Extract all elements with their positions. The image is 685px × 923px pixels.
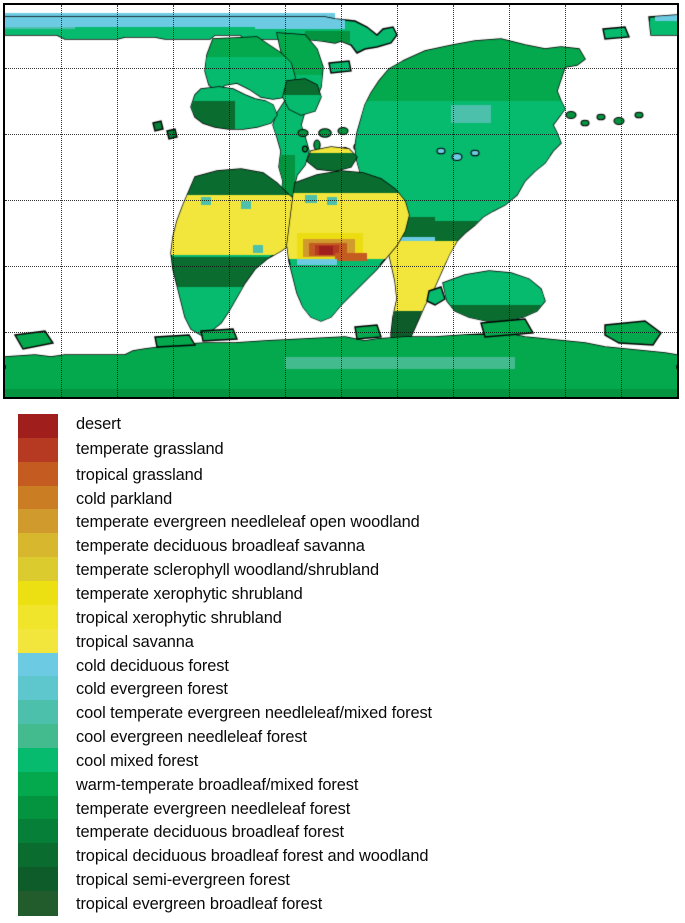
legend-item-label: tropical grassland (76, 463, 203, 487)
legend-color-swatch (18, 629, 58, 654)
legend-item-label: tropical deciduous broadleaf forest and … (76, 844, 428, 868)
legend-color-swatch (18, 819, 58, 844)
legend-item: temperate evergreen needleleaf forest (0, 796, 685, 820)
legend-item: tropical semi-evergreen forest (0, 867, 685, 891)
legend-color-swatch (18, 700, 58, 725)
figure-page: deserttemperate grasslandtropical grassl… (0, 0, 685, 923)
biome-map-canvas[interactable] (5, 5, 677, 397)
legend-color-swatch (18, 867, 58, 892)
biome-legend: deserttemperate grasslandtropical grassl… (0, 414, 685, 923)
legend-color-swatch (18, 724, 58, 749)
legend-item: desert (0, 414, 685, 438)
legend-color-swatch (18, 772, 58, 797)
legend-item-label: tropical semi-evergreen forest (76, 868, 290, 892)
legend-item: temperate deciduous broadleaf forest (0, 819, 685, 843)
legend-color-swatch (18, 557, 58, 582)
legend-item-label: temperate sclerophyll woodland/shrubland (76, 558, 379, 582)
legend-item-label: desert (76, 412, 121, 436)
legend-color-swatch (18, 462, 58, 487)
legend-item-label: temperate evergreen needleleaf forest (76, 797, 350, 821)
legend-color-swatch (18, 533, 58, 558)
legend-item-label: temperate grassland (76, 437, 224, 461)
legend-color-swatch (18, 581, 58, 606)
legend-item: tropical xerophytic shrubland (0, 605, 685, 629)
legend-item: temperate sclerophyll woodland/shrubland (0, 557, 685, 581)
legend-item-label: cool temperate evergreen needleleaf/mixe… (76, 701, 432, 725)
legend-color-swatch (18, 748, 58, 773)
legend-item-label: temperate deciduous broadleaf savanna (76, 534, 365, 558)
legend-item-label: cold parkland (76, 487, 172, 511)
legend-item-label: cool mixed forest (76, 749, 198, 773)
legend-item: temperate deciduous broadleaf savanna (0, 533, 685, 557)
legend-item-label: temperate evergreen needleleaf open wood… (76, 510, 420, 534)
legend-color-swatch (18, 676, 58, 701)
legend-item: cool mixed forest (0, 748, 685, 772)
legend-color-swatch (18, 414, 58, 439)
legend-color-swatch (18, 796, 58, 821)
legend-item-label: tropical xerophytic shrubland (76, 606, 282, 630)
legend-item: cool temperate evergreen needleleaf/mixe… (0, 700, 685, 724)
legend-item-label: cold evergreen forest (76, 677, 228, 701)
legend-color-swatch (18, 486, 58, 511)
legend-item: tropical savanna (0, 629, 685, 653)
legend-item: cold parkland (0, 486, 685, 510)
legend-item: tropical evergreen broadleaf forest (0, 891, 685, 915)
legend-item: cold evergreen forest (0, 676, 685, 700)
legend-item-label: cool evergreen needleleaf forest (76, 725, 307, 749)
legend-item-label: tropical evergreen broadleaf forest (76, 892, 322, 916)
legend-color-swatch (18, 605, 58, 630)
legend-item-label: tropical savanna (76, 630, 194, 654)
legend-item-label: warm-temperate broadleaf/mixed forest (76, 773, 358, 797)
legend-color-swatch (18, 891, 58, 916)
map-panel[interactable] (3, 3, 679, 399)
legend-item: temperate xerophytic shrubland (0, 581, 685, 605)
legend-item: warm-temperate broadleaf/mixed forest (0, 772, 685, 796)
legend-item: cool evergreen needleleaf forest (0, 724, 685, 748)
legend-color-swatch (18, 843, 58, 868)
legend-item: tropical deciduous broadleaf forest and … (0, 843, 685, 867)
legend-color-swatch (18, 653, 58, 678)
legend-item: temperate grassland (0, 438, 685, 462)
legend-item: tropical grassland (0, 462, 685, 486)
legend-color-swatch (18, 509, 58, 534)
legend-item: temperate evergreen needleleaf open wood… (0, 509, 685, 533)
legend-color-swatch (18, 438, 58, 463)
legend-item: cold deciduous forest (0, 653, 685, 677)
legend-item-label: temperate deciduous broadleaf forest (76, 820, 344, 844)
legend-item-label: temperate xerophytic shrubland (76, 582, 303, 606)
legend-item-label: cold deciduous forest (76, 654, 229, 678)
